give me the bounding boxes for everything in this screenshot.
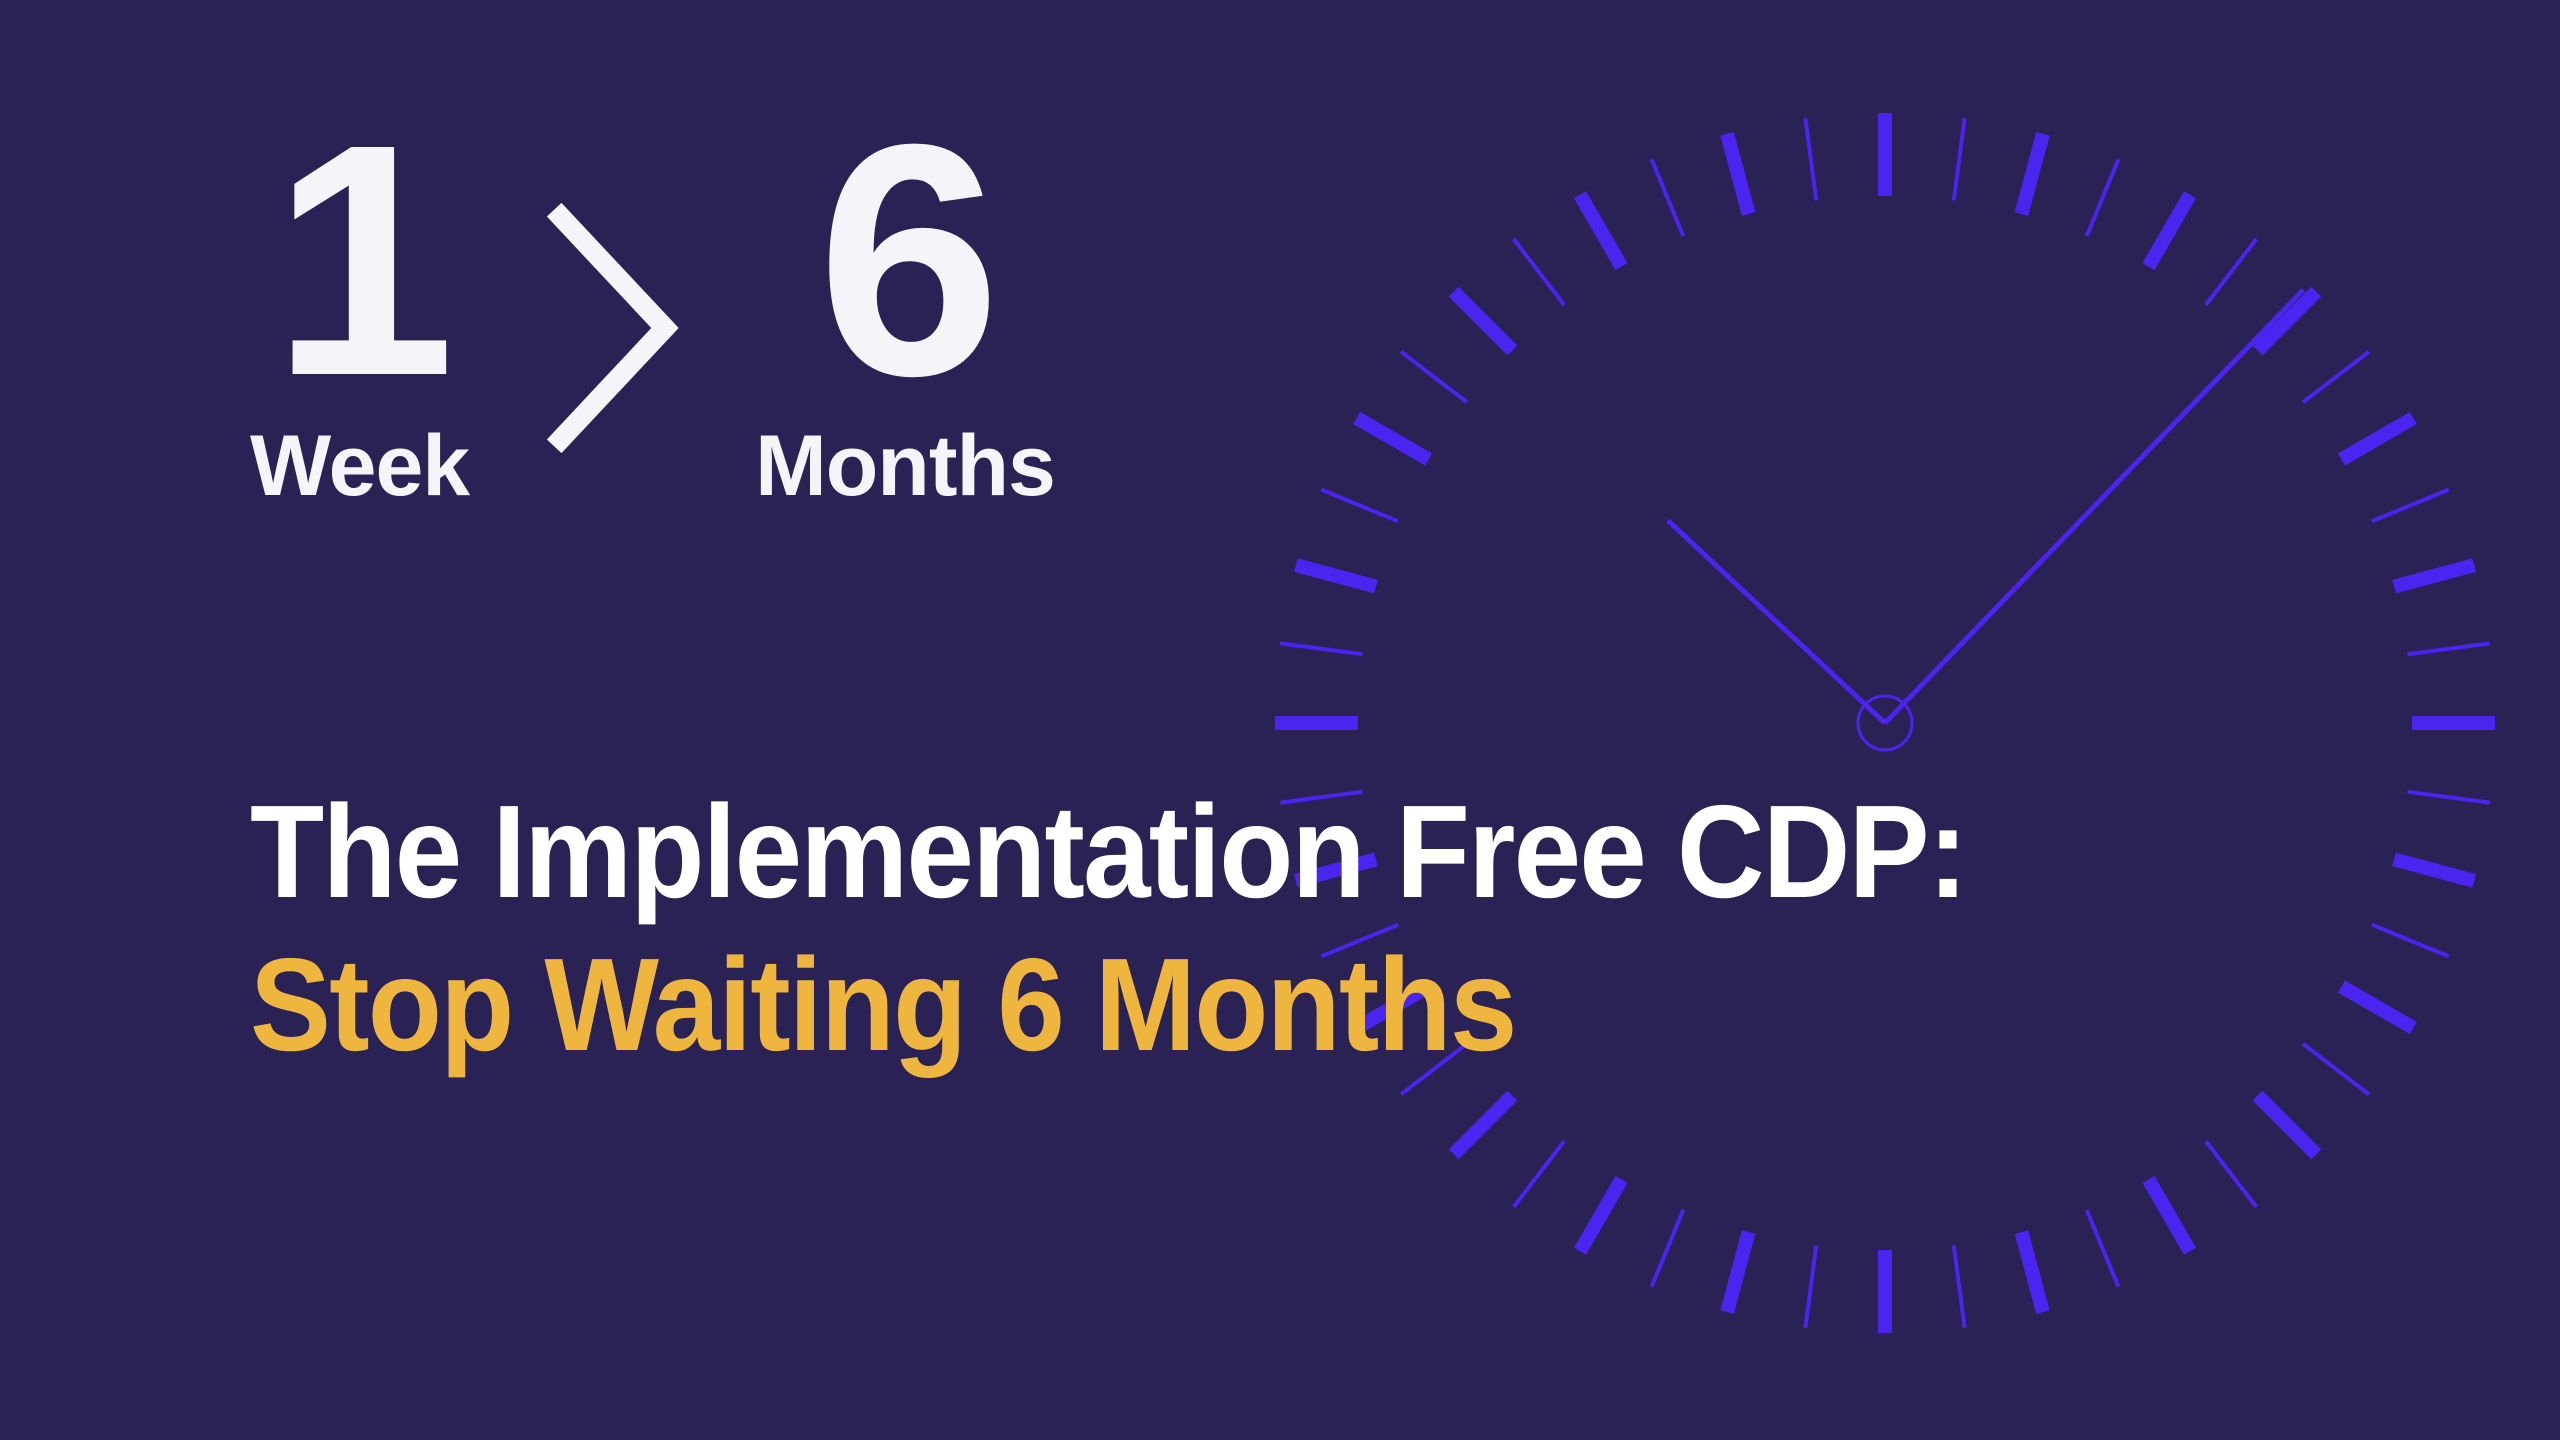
stat-after-number: 6 <box>817 120 993 401</box>
stat-before: 1 Week <box>250 120 469 509</box>
stat-after: 6 Months <box>755 120 1055 509</box>
headline: The Implementation Free CDP: Stop Waitin… <box>250 775 2350 1081</box>
stat-comparison-row: 1 Week 6 Months <box>250 120 1055 509</box>
headline-line-secondary: Stop Waiting 6 Months <box>250 928 2182 1081</box>
stat-before-label: Week <box>250 423 469 509</box>
headline-line-primary: The Implementation Free CDP: <box>250 775 2182 928</box>
stat-after-label: Months <box>755 423 1055 509</box>
stat-before-number: 1 <box>272 120 448 401</box>
promo-banner: 1 Week 6 Months The Implementation Free … <box>0 0 2560 1440</box>
chevron-right-icon <box>529 178 699 478</box>
